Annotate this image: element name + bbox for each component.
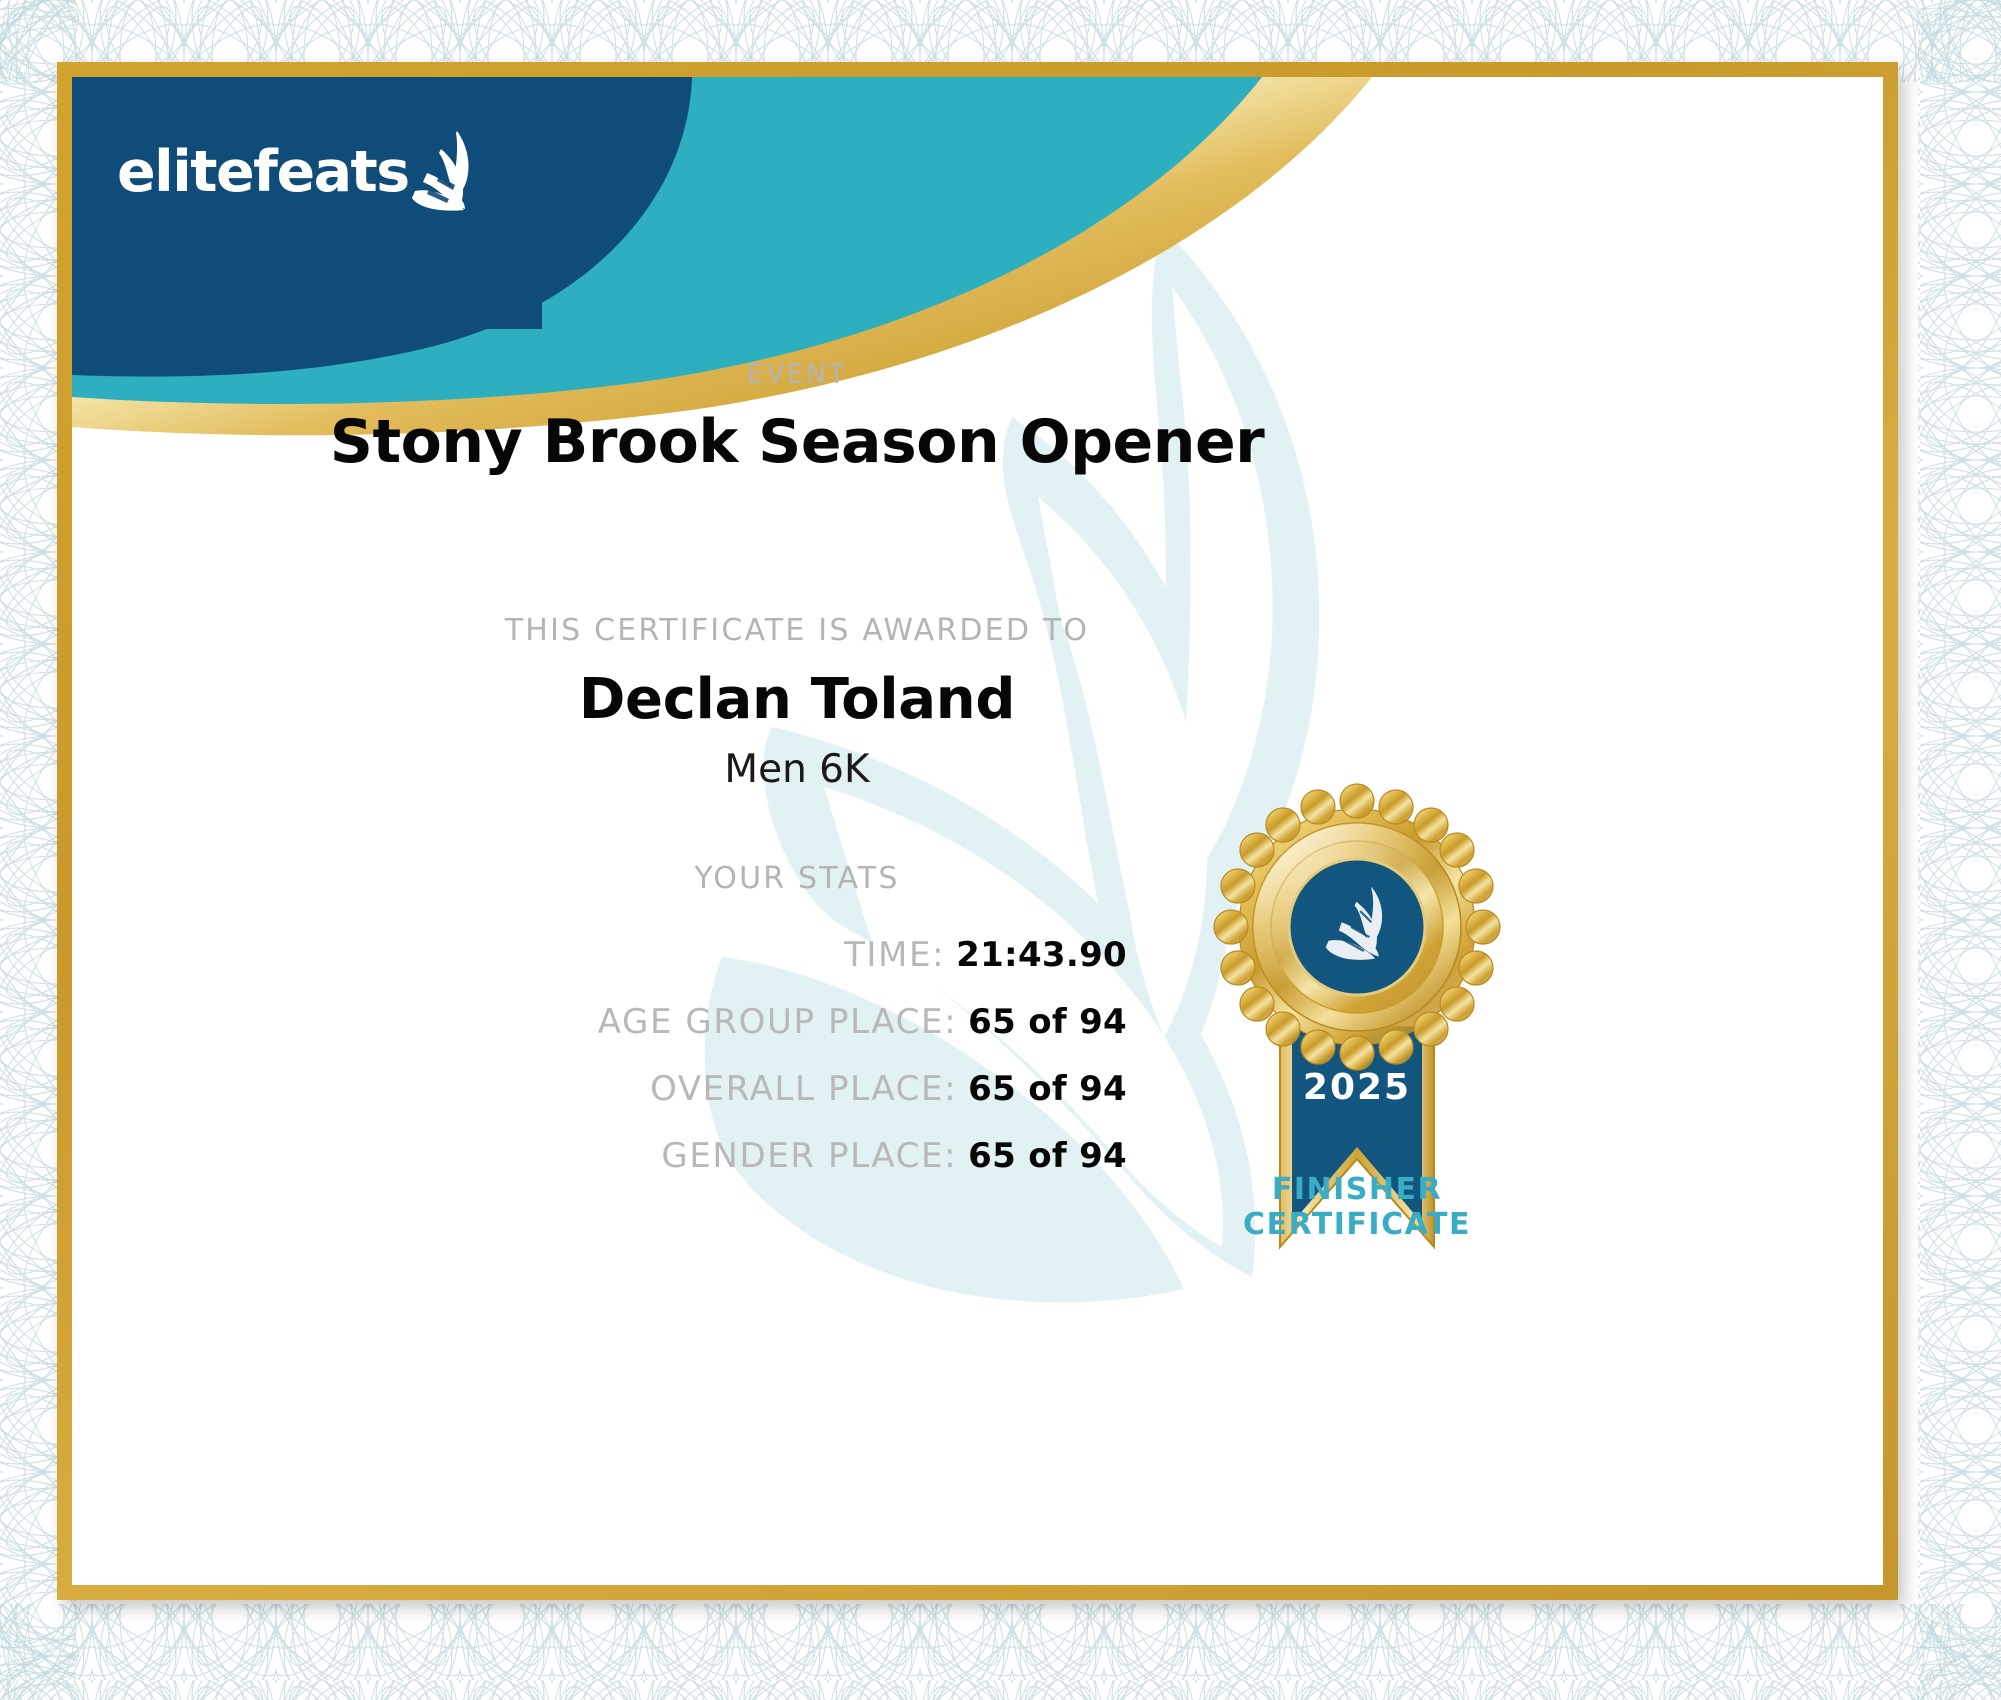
brand-name: elitefeats bbox=[117, 144, 409, 201]
recipient-name: Declan Toland bbox=[72, 667, 1522, 732]
gold-frame: elitefeats EVENT Ston bbox=[57, 62, 1898, 1600]
stat-value: 65 of 94 bbox=[968, 1136, 1127, 1176]
medal-year: 2025 bbox=[1303, 1067, 1411, 1108]
stat-key: AGE GROUP PLACE: bbox=[598, 1002, 957, 1042]
stat-key: OVERALL PLACE: bbox=[650, 1069, 957, 1109]
awarded-to-label: THIS CERTIFICATE IS AWARDED TO bbox=[72, 613, 1522, 648]
stat-key: GENDER PLACE: bbox=[661, 1136, 957, 1176]
stat-value: 65 of 94 bbox=[968, 1069, 1127, 1109]
medal-caption-line1: FINISHER bbox=[1182, 1172, 1532, 1207]
medal-caption-line2: CERTIFICATE bbox=[1182, 1207, 1532, 1242]
stat-value: 65 of 94 bbox=[968, 1002, 1127, 1042]
stat-value: 21:43.90 bbox=[956, 935, 1127, 975]
stat-key: TIME: bbox=[844, 935, 945, 975]
brand-logo: elitefeats bbox=[117, 129, 479, 201]
certificate-page: elitefeats EVENT Ston bbox=[0, 0, 2001, 1700]
certificate-body: elitefeats EVENT Ston bbox=[72, 77, 1883, 1585]
event-label: EVENT bbox=[72, 359, 1522, 390]
medal-caption: FINISHER CERTIFICATE bbox=[1182, 1172, 1532, 1243]
certificate-content: EVENT Stony Brook Season Opener THIS CER… bbox=[72, 77, 1883, 1585]
winged-foot-icon bbox=[411, 129, 479, 211]
event-title: Stony Brook Season Opener bbox=[72, 407, 1522, 477]
